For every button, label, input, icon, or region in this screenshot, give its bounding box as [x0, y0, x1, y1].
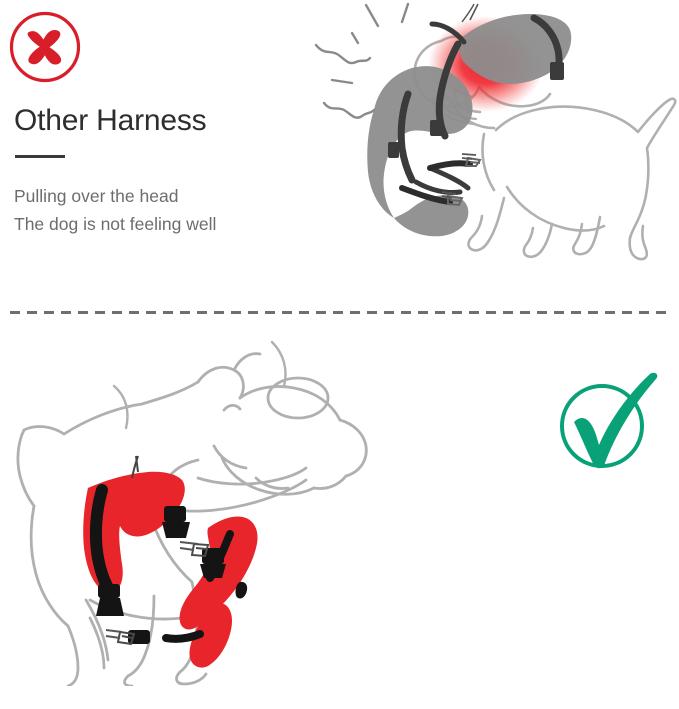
check-mark-circle-icon	[552, 372, 662, 474]
dog-with-step-in-harness-illustration	[2, 338, 388, 686]
body-text-other-harness: Pulling over the head The dog is not fee…	[14, 182, 334, 238]
x-mark-circle-icon	[8, 10, 82, 84]
title-underline-rule-top	[15, 155, 65, 158]
dashed-divider	[10, 311, 670, 314]
infographic-page: Other Harness Pulling over the head The …	[0, 0, 679, 709]
dog-with-overhead-harness-illustration	[312, 2, 679, 290]
page-title-other-harness: Other Harness	[14, 104, 206, 138]
